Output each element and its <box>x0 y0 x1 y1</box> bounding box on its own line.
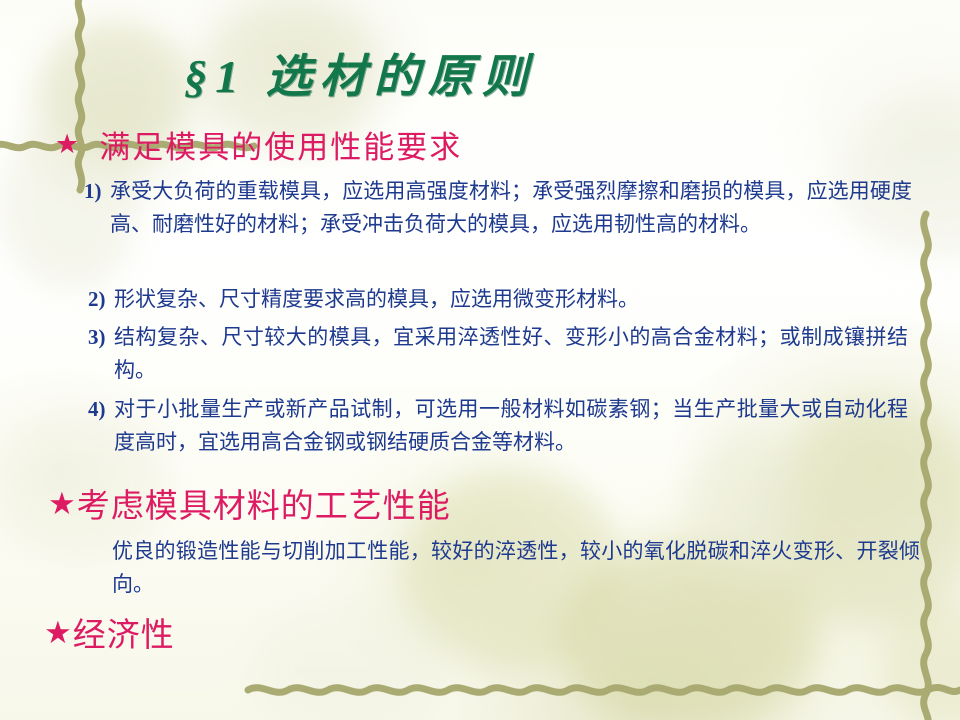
numbered-list-item: 3) 结构复杂、尺寸较大的模具，宜采用淬透性好、变形小的高合金材料；或制成镶拼结… <box>88 321 908 387</box>
list-item-number: 2) <box>88 283 114 316</box>
numbered-list-item: 1) 承受大负荷的重载模具，应选用高强度材料；承受强烈摩擦和磨损的模具，应选用硬… <box>84 175 912 241</box>
list-item-text: 承受大负荷的重载模具，应选用高强度材料；承受强烈摩擦和磨损的模具，应选用硬度高、… <box>110 175 912 241</box>
list-item-number: 4) <box>88 393 114 426</box>
bullet-heading-3: ★ 经济性 <box>44 608 175 656</box>
bullet-heading-2: ★ 考虑模具材料的工艺性能 <box>48 479 451 527</box>
bullet-2-subtext: 优良的锻造性能与切削加工性能，较好的淬透性，较小的氧化脱碳和淬火变形、开裂倾向。 <box>112 535 920 601</box>
bullet-heading-1: ★ 满足模具的使用性能要求 <box>55 122 462 167</box>
star-icon: ★ <box>55 131 79 158</box>
list-item-number: 1) <box>84 175 110 208</box>
slide-title: §1 选材的原则 <box>0 40 720 106</box>
numbered-list-item: 2) 形状复杂、尺寸精度要求高的模具，应选用微变形材料。 <box>88 283 908 316</box>
slide-canvas: §1 选材的原则 ★ 满足模具的使用性能要求 1) 承受大负荷的重载模具，应选用… <box>0 0 960 720</box>
list-item-text: 形状复杂、尺寸精度要求高的模具，应选用微变形材料。 <box>114 283 908 316</box>
bullet-heading-2-label: 考虑模具材料的工艺性能 <box>77 479 451 527</box>
list-item-text: 对于小批量生产或新产品试制，可选用一般材料如碳素钢；当生产批量大或自动化程度高时… <box>114 393 908 459</box>
list-item-text: 结构复杂、尺寸较大的模具，宜采用淬透性好、变形小的高合金材料；或制成镶拼结构。 <box>114 321 908 387</box>
list-item-number: 3) <box>88 321 114 354</box>
numbered-list-item: 4) 对于小批量生产或新产品试制，可选用一般材料如碳素钢；当生产批量大或自动化程… <box>88 393 908 459</box>
star-icon: ★ <box>48 488 76 519</box>
bullet-heading-3-label: 经济性 <box>73 608 175 656</box>
bullet-heading-1-label: 满足模具的使用性能要求 <box>99 122 462 167</box>
star-icon: ★ <box>44 617 72 648</box>
